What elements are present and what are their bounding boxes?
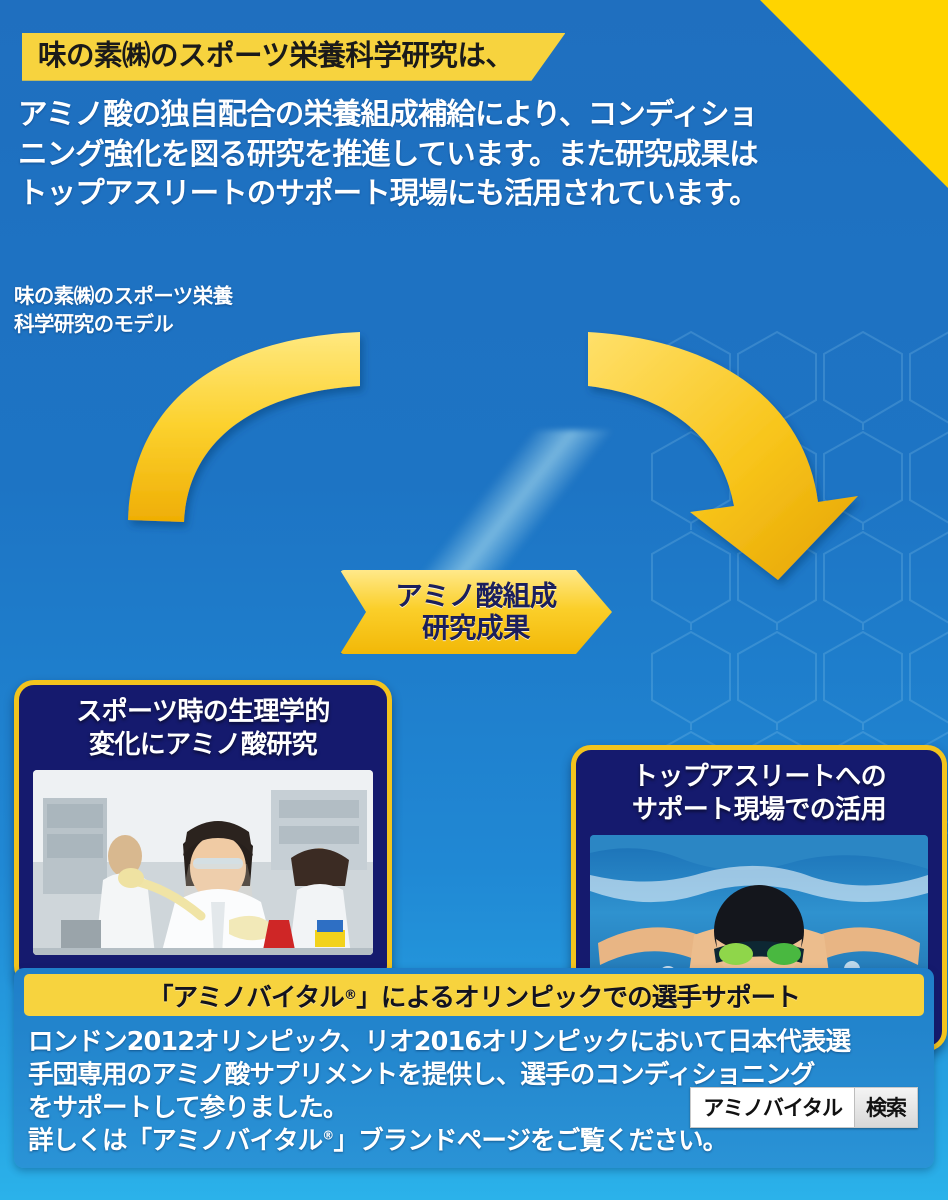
search-button[interactable]: 検索 bbox=[854, 1088, 917, 1127]
arrow-arc-upper-left bbox=[128, 332, 360, 522]
poster-root: 味の素㈱のスポーツ栄養科学研究は、 アミノ酸の独自配合の栄養組成補給により、コン… bbox=[0, 0, 948, 1200]
arrow-label-amino-acid-composition: アミノ酸組成 研究成果 bbox=[340, 570, 612, 654]
arrow-arc-upper-right bbox=[588, 332, 858, 580]
cycle-diagram: アミノ酸組成 研究成果 アスリートからの フィードバック スポーツ時の生理学的 … bbox=[0, 250, 948, 950]
bottom-line-4-suffix: 」ブランドページをご覧ください。 bbox=[333, 1126, 727, 1156]
brand-search-box[interactable]: アミノバイタル 検索 bbox=[690, 1087, 918, 1128]
olympic-support-title: 「アミノバイタル®」によるオリンピックでの選手サポート bbox=[24, 974, 924, 1016]
header-line-3: トップアスリートのサポート現場にも活用されています。 bbox=[18, 174, 898, 214]
bottom-line-4-prefix: 詳しくは「アミノバイタル bbox=[28, 1126, 322, 1156]
node-research-photo bbox=[33, 770, 373, 955]
olympic-support-panel: 「アミノバイタル®」によるオリンピックでの選手サポート ロンドン2012オリンピ… bbox=[14, 968, 934, 1168]
node-research-title-line-2: 変化にアミノ酸研究 bbox=[19, 729, 387, 762]
laboratory-researcher-image bbox=[33, 770, 373, 955]
header-line-1: アミノ酸の独自配合の栄養組成補給により、コンディショ bbox=[18, 95, 898, 135]
header: 味の素㈱のスポーツ栄養科学研究は、 アミノ酸の独自配合の栄養組成補給により、コン… bbox=[0, 0, 948, 214]
olympic-support-title-prefix: 「アミノバイタル bbox=[148, 977, 344, 1014]
registered-mark-icon-2: ® bbox=[322, 1129, 333, 1143]
node-athlete-title-line-2: サポート現場での活用 bbox=[576, 794, 942, 827]
node-research-title-line-1: スポーツ時の生理学的 bbox=[19, 696, 387, 729]
olympic-support-title-suffix: 」によるオリンピックでの選手サポート bbox=[356, 977, 800, 1014]
node-card-research: スポーツ時の生理学的 変化にアミノ酸研究 bbox=[14, 680, 392, 986]
arrow-label-top-line-1: アミノ酸組成 bbox=[395, 580, 556, 612]
header-description: アミノ酸の独自配合の栄養組成補給により、コンディショ ニング強化を図る研究を推進… bbox=[18, 95, 898, 214]
node-research-title: スポーツ時の生理学的 変化にアミノ酸研究 bbox=[19, 685, 387, 770]
header-banner-title: 味の素㈱のスポーツ栄養科学研究は、 bbox=[22, 33, 565, 81]
search-input[interactable]: アミノバイタル bbox=[691, 1088, 854, 1127]
arrow-label-top-line-2: 研究成果 bbox=[395, 612, 556, 644]
bottom-line-4: 詳しくは「アミノバイタル®」ブランドページをご覧ください。 bbox=[28, 1125, 928, 1158]
bottom-line-1: ロンドン2012オリンピック、リオ2016オリンピックにおいて日本代表選 bbox=[28, 1026, 928, 1059]
header-line-2: ニング強化を図る研究を推進しています。また研究成果は bbox=[18, 135, 898, 175]
registered-mark-icon: ® bbox=[344, 988, 356, 1003]
node-athlete-title-line-1: トップアスリートへの bbox=[576, 761, 942, 794]
node-athlete-title: トップアスリートへの サポート現場での活用 bbox=[576, 750, 942, 835]
